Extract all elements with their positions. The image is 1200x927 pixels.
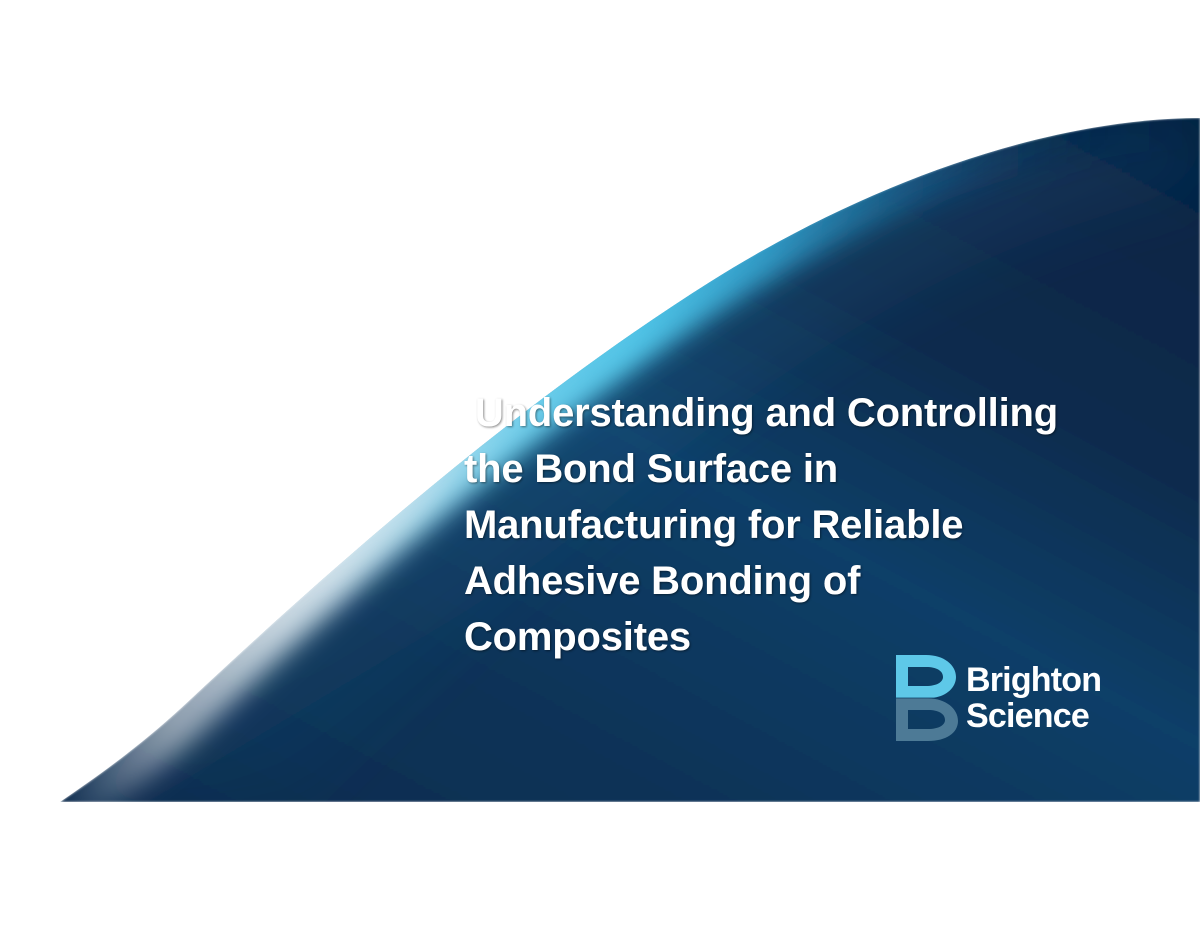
logo-wordmark: Brighton Science xyxy=(966,662,1101,734)
brighton-b-mark-icon xyxy=(896,653,958,743)
title-slide: Understanding and Controlling the Bond S… xyxy=(0,0,1200,927)
title-line-1: Understanding and Controlling xyxy=(464,385,1124,441)
title-line-4: Adhesive Bonding of xyxy=(464,553,1124,609)
logo-mark-top xyxy=(896,655,956,698)
logo-word-brighton: Brighton xyxy=(966,662,1101,698)
page-title: Understanding and Controlling the Bond S… xyxy=(464,385,1124,665)
logo-word-science: Science xyxy=(966,698,1101,734)
logo-mark-bottom xyxy=(896,698,958,741)
brighton-science-logo: Brighton Science xyxy=(896,652,1126,744)
left-white-fade-2 xyxy=(0,330,450,790)
title-line-3: Manufacturing for Reliable xyxy=(464,497,1124,553)
title-line-2: the Bond Surface in xyxy=(464,441,1124,497)
